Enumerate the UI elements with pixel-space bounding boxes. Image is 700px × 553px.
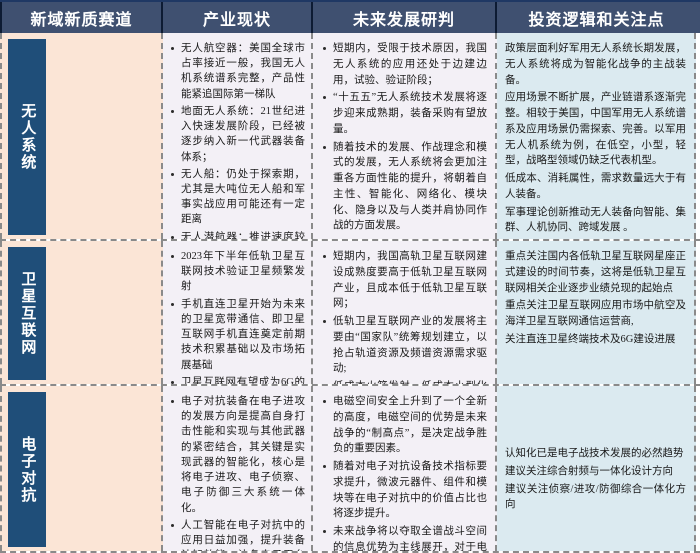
image-stack — [51, 247, 157, 250]
outlook-list: 短期内，我国高轨卫星互联网建设成熟度要高于低轨卫星互联网产业，且成本低于低轨卫星… — [319, 249, 487, 384]
row-investment-cell: 重点关注国内各低轨卫星互联网星座正式建设的时间节奏，这将是低轨卫星互联网相关企业… — [497, 241, 696, 384]
row-status-cell: 电子对抗装备在电子进攻的发展方向是提高自身打击性能和实现与其他武器的紧密结合，其… — [163, 386, 313, 551]
list-item: 重点关注卫星互联网应用市场中航空及海洋卫星互联网通信运营商, — [505, 298, 686, 330]
table-row: 无人系统 无人航空器：美国全球市占率接近一般，我国无人机系统谱系完整，产品性能紧… — [0, 33, 700, 241]
list-item: 军事理论创新推动无人装备向智能、集群、人机协同、跨域发展 。 — [505, 205, 686, 237]
row-status-cell: 无人航空器：美国全球市占率接近一般，我国无人机系统谱系完整，产品性能紧追国际第一… — [163, 33, 313, 239]
list-item: 手机直连卫星开始为未来的卫星宽带通信、即卫星互联网手机直连奠定前期技术积累基础以… — [181, 297, 305, 373]
status-list: 2023年下半年低轨卫星互联网技术验证卫星频繁发射 手机直连卫星开始为未来的卫星… — [167, 249, 305, 384]
list-item: 外贸市场将逐步打开，以无人机系统为首的无人系统已成为国内军贸的重要部分。 — [505, 238, 686, 239]
list-item: 卫星互联网有望成为6G的的重要组成部分之一 — [181, 375, 305, 384]
table-header-row: 新域新质赛道 产业现状 未来发展研判 投资逻辑和关注点 — [0, 0, 700, 33]
comparison-table: 新域新质赛道 产业现状 未来发展研判 投资逻辑和关注点 无人系统 无人航空器：美… — [0, 0, 700, 553]
list-item: 无人潜航器：推进速度较大吨位无人船相对更快，波音公司首艘超大型UUV已交付美军。 — [181, 230, 305, 239]
row-track-cell: 无人系统 — [0, 33, 163, 239]
row-track-cell: 电子对抗 — [0, 386, 163, 551]
list-item: 短期内，受限于技术原因，我国无人系统的应用还处于边建边用，试验、验证阶段； — [333, 41, 487, 88]
header-cell-industry-status: 产业现状 — [163, 2, 313, 33]
list-item: 随着对电子对抗设备技术指标要求提升，微波元器件、组件和模块等在电子对抗中的价值占… — [333, 459, 487, 522]
track-label-unmanned-systems: 无人系统 — [8, 39, 46, 235]
track-label-satellite-internet: 卫星互联网 — [8, 247, 46, 380]
table-row: 电子对抗 电子对抗装备在电子进攻的发展方向是提高自身打击性能和实现与其他武器的紧… — [0, 386, 700, 553]
list-item: “十五五”无人系统技术发展将逐步迎来成熟期，装备采购有望放量。 — [333, 90, 487, 137]
image-stack — [51, 392, 157, 395]
row-investment-cell: 认知化已是电子战技术发展的必然趋势 建议关注综合射频与一体化设计方向 建议关注侦… — [497, 386, 696, 551]
table-body: 无人系统 无人航空器：美国全球市占率接近一般，我国无人机系统谱系完整，产品性能紧… — [0, 33, 700, 553]
list-item: 电子对抗装备在电子进攻的发展方向是提高自身打击性能和实现与其他武器的紧密结合，其… — [181, 394, 305, 516]
image-stack — [51, 39, 157, 48]
row-outlook-cell: 电磁空间安全上升到了一个全新的高度，电磁空间的优势是未来战争的“制高点”，是决定… — [313, 386, 497, 551]
status-list: 无人航空器：美国全球市占率接近一般，我国无人机系统谱系完整，产品性能紧追国际第一… — [167, 41, 305, 239]
list-item: 未来战争将以夺取全谱战斗空间的信息优势为主线展开，对于电磁频谱域战斗力生成的需求… — [333, 524, 487, 551]
outlook-list: 短期内，受限于技术原因，我国无人系统的应用还处于边建边用，试验、验证阶段； “十… — [319, 41, 487, 234]
list-item: 地面无人系统：21世纪进入快速发展阶段，已经被逐步纳入新一代武器装备体系； — [181, 104, 305, 165]
list-item: 电磁空间安全上升到了一个全新的高度，电磁空间的优势是未来战争的“制高点”，是决定… — [333, 394, 487, 457]
header-cell-track: 新域新质赛道 — [0, 2, 163, 33]
row-investment-cell: 政策层面利好军用无人系统长期发展，无人系统将成为智能化战争的主战装备。 应用场景… — [497, 33, 696, 239]
list-item: 建议关注综合射频与一体化设计方向 — [505, 464, 686, 480]
list-item: 2023年下半年低轨卫星互联网技术验证卫星频繁发射 — [181, 249, 305, 295]
list-item: 政策层面利好军用无人系统长期发展，无人系统将成为智能化战争的主战装备。 — [505, 41, 686, 88]
list-item: 随着技术的发展、作战理念和模式的发展，无人系统将会更加注重各方面性能的提升，将朝… — [333, 140, 487, 235]
header-cell-investment-logic: 投资逻辑和关注点 — [497, 2, 696, 33]
list-item: 短期内，我国高轨卫星互联网建设成熟度要高于低轨卫星互联网产业，且成本低于低轨卫星… — [333, 249, 487, 312]
list-item: 无人船：仍处于探索期，尤其是大吨位无人船和军事实战应用可能还有一定距离 — [181, 167, 305, 228]
row-outlook-cell: 短期内，受限于技术原因，我国无人系统的应用还处于边建边用，试验、验证阶段； “十… — [313, 33, 497, 239]
list-item: 认知化已是电子战技术发展的必然趋势 — [505, 446, 686, 462]
list-item: 人工智能在电子对抗中的应用日益加强，提升装备认知效能，让各电子平台能自主学习、动… — [181, 518, 305, 551]
list-item: 低成本、消耗属性，需求数量远大于有人装备。 — [505, 171, 686, 203]
row-outlook-cell: 短期内，我国高轨卫星互联网建设成熟度要高于低轨卫星互联网产业，且成本低于低轨卫星… — [313, 241, 497, 384]
table-row: 卫星互联网 2023年下半年低轨卫星互联网技术验证卫星频繁发射 手机直连卫星开始… — [0, 241, 700, 386]
track-label-electronic-warfare: 电子对抗 — [8, 392, 46, 547]
row-track-cell: 卫星互联网 — [0, 241, 163, 384]
list-item: 无人航空器：美国全球市占率接近一般，我国无人机系统谱系完整，产品性能紧追国际第一… — [181, 41, 305, 102]
list-item: 建议关注侦察/进攻/防御综合一体化方向 — [505, 482, 686, 514]
list-item: 应用场景不断扩展，产业链谱系逐渐完整。相较于美国，中国军用无人系统谱系及应用场景… — [505, 90, 686, 169]
status-list: 电子对抗装备在电子进攻的发展方向是提高自身打击性能和实现与其他武器的紧密结合，其… — [167, 394, 305, 551]
header-cell-future-outlook: 未来发展研判 — [313, 2, 497, 33]
outlook-list: 电磁空间安全上升到了一个全新的高度，电磁空间的优势是未来战争的“制高点”，是决定… — [319, 394, 487, 551]
row-status-cell: 2023年下半年低轨卫星互联网技术验证卫星频繁发射 手机直连卫星开始为未来的卫星… — [163, 241, 313, 384]
list-item: 重点关注国内各低轨卫星互联网星座正式建设的时间节奏，这将是低轨卫星互联网相关企业… — [505, 249, 686, 296]
list-item: 低成本火箭发射、低成本小型化卫星互联网终端将是影响卫星互联网发展的关键 — [333, 379, 487, 384]
list-item: 低轨卫星互联网产业的发展将主要由“国家队”统筹规划建立，以抢占轨道资源及频谱资源… — [333, 314, 487, 377]
list-item: 关注直连卫星终端技术及6G建设进展 — [505, 332, 686, 348]
